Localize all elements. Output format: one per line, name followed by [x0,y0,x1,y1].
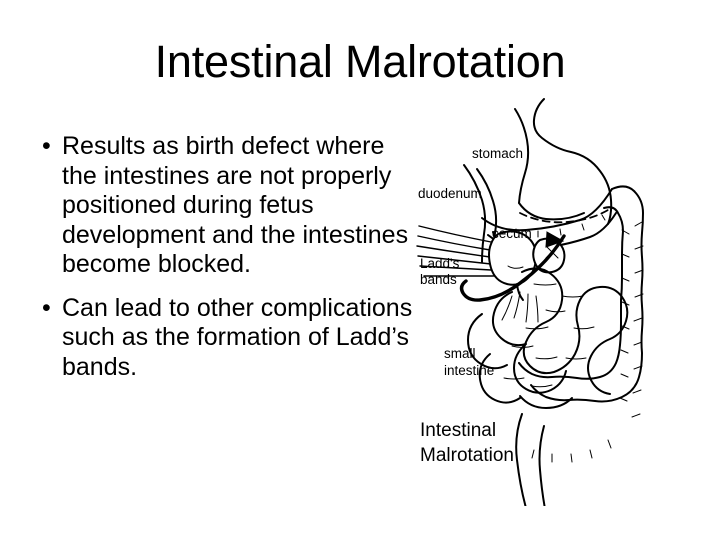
small-intestine-outline [468,268,627,408]
figure-caption-line1: Intestinal [420,420,496,441]
list-item: • Can lead to other complications such a… [36,294,416,383]
bullet-text: Can lead to other complications such as … [62,294,412,381]
bullet-list: • Results as birth defect where the inte… [36,132,416,396]
label-ladds-bands-line1: Ladd's [420,256,460,271]
list-item: • Results as birth defect where the inte… [36,132,416,280]
bullet-marker: • [42,294,51,324]
label-small-intestine-line1: small [444,346,476,361]
figure-caption-line2: Malrotation [420,445,514,466]
label-cecum: cecum [492,226,532,241]
bullet-marker: • [42,132,51,162]
page-title: Intestinal Malrotation [0,36,720,88]
stomach-outline [515,99,611,224]
label-ladds-bands-line2: bands [420,272,457,287]
label-small-intestine-line2: intestine [444,363,494,378]
label-duodenum: duodenum [418,186,482,201]
rectum-outline [516,414,546,506]
bullet-text: Results as birth defect where the intest… [62,132,408,278]
slide: Intestinal Malrotation • Results as birt… [0,0,720,540]
intestinal-malrotation-diagram: stomach duodenum cecum Ladd's bands smal… [416,96,716,506]
label-stomach: stomach [472,146,523,161]
